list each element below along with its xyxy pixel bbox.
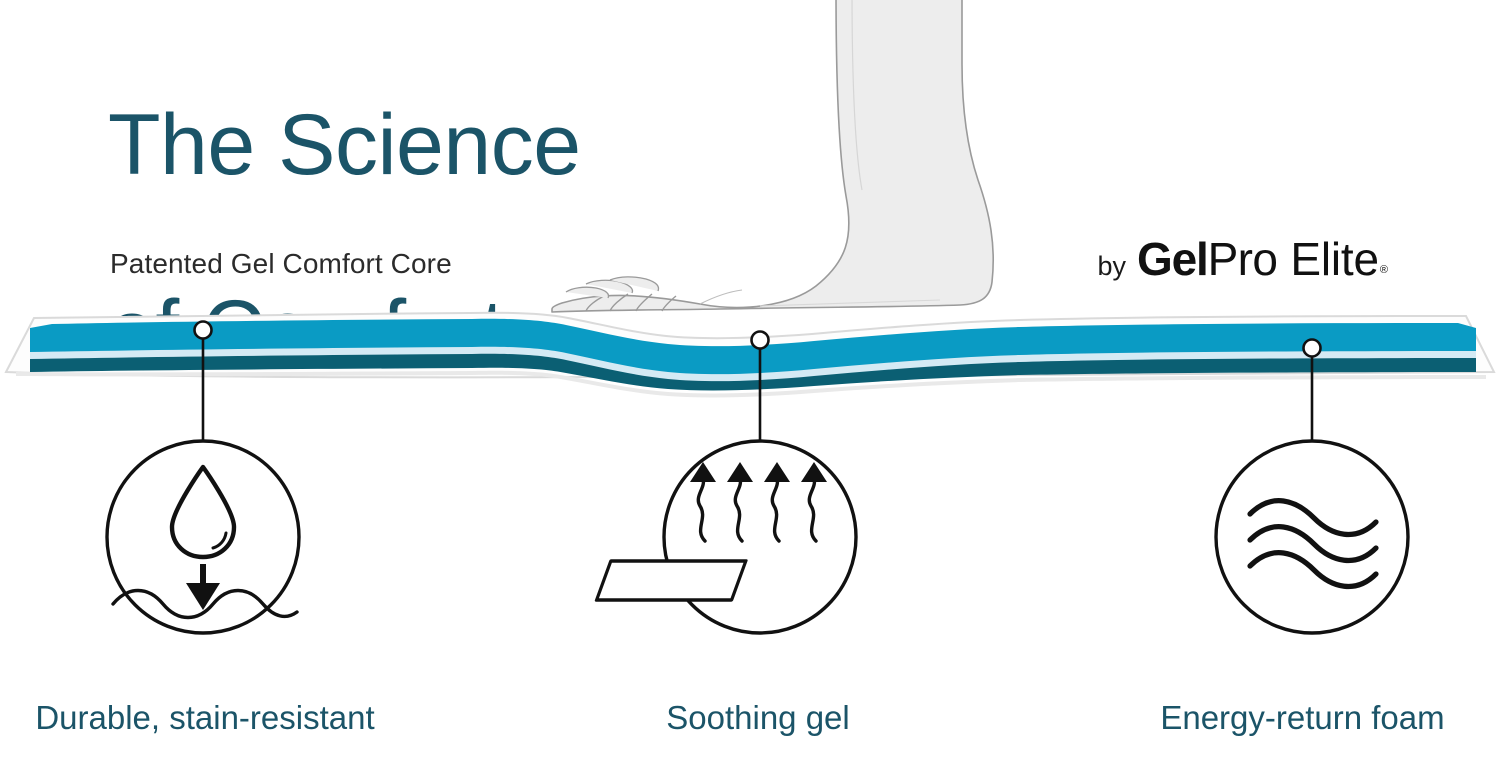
callout-dot-2 bbox=[752, 332, 769, 349]
feature-caption-2: Soothing gel restores energy & prevents … bbox=[552, 658, 964, 778]
callout-dot-3 bbox=[1304, 340, 1321, 357]
feature-icon-3-group bbox=[1216, 441, 1408, 633]
foot-illustration bbox=[552, 0, 993, 312]
feature-caption-1: Durable, stain-resistant & easy-to-clean… bbox=[0, 658, 410, 778]
feature-caption-1-line-1: Durable, stain-resistant bbox=[0, 698, 410, 738]
feature-icon-1-group bbox=[107, 441, 299, 633]
infographic-root: The Science of Comfort by Gel Pro Elite … bbox=[0, 0, 1500, 778]
feature-caption-3-line-1: Energy-return foam bbox=[1105, 698, 1500, 738]
icon-circle-2 bbox=[664, 441, 856, 633]
feature-caption-2-line-1: Soothing gel bbox=[552, 698, 964, 738]
feature-caption-3: Energy-return foam provides maximum supp… bbox=[1105, 658, 1500, 778]
callout-dot-1 bbox=[195, 322, 212, 339]
feature-icon-2-group bbox=[597, 441, 856, 633]
icon-circle-3 bbox=[1216, 441, 1408, 633]
mat-slab-icon bbox=[597, 561, 746, 600]
mat-cross-section-diagram bbox=[0, 0, 1500, 660]
